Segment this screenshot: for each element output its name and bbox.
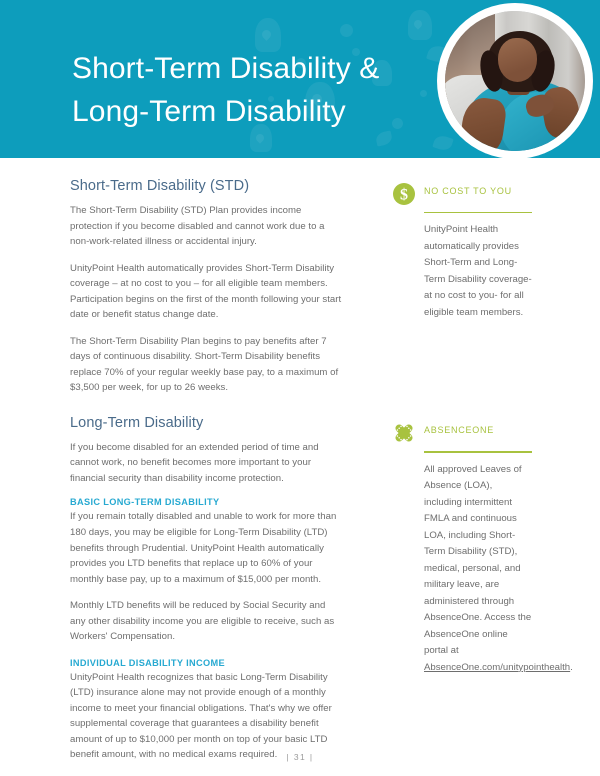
subheading-individual-disability-income: INDIVIDUAL DISABILITY INCOME [70, 658, 342, 668]
page-number: | 31 | [287, 752, 314, 762]
std-paragraph-2: UnityPoint Health automatically provides… [70, 261, 342, 323]
section-spacer [70, 396, 342, 415]
callout-body-text-after-link: . [570, 662, 573, 673]
page-title-line-2: Long-Term Disability [72, 91, 432, 134]
subheading-basic-long-term-disability: BASIC LONG-TERM DISABILITY [70, 497, 342, 507]
bandages-icon [392, 421, 416, 445]
section-heading-std: Short-Term Disability (STD) [70, 178, 342, 194]
std-paragraph-1: The Short-Term Disability (STD) Plan pro… [70, 203, 342, 250]
basic-ltd-paragraph-2: Monthly LTD benefits will be reduced by … [70, 598, 342, 645]
callout-divider [424, 212, 532, 213]
main-column: Short-Term Disability (STD) The Short-Te… [70, 178, 342, 763]
section-long-term-disability: Long-Term Disability If you become disab… [70, 415, 342, 763]
dollar-circle-icon: $ [392, 182, 416, 206]
callout-title-no-cost: NO COST TO YOU [424, 182, 532, 196]
svg-text:$: $ [400, 186, 408, 203]
sidebar-callouts: $ NO COST TO YOU UnityPoint Health autom… [392, 182, 532, 676]
page-title-line-1: Short-Term Disability & [72, 48, 432, 91]
ltd-paragraph-1: If you become disabled for an extended p… [70, 440, 342, 487]
basic-ltd-paragraph-1: If you remain totally disabled and unabl… [70, 509, 342, 587]
page-footer: | 31 | [0, 752, 600, 762]
callout-divider [424, 451, 532, 452]
callout-spacer [392, 321, 532, 421]
callout-title-absenceone: ABSENCEONE [424, 421, 532, 435]
callout-body-no-cost: UnityPoint Health automatically provides… [424, 222, 532, 321]
callout-body-absenceone: All approved Leaves of Absence (LOA), in… [424, 462, 532, 677]
callout-no-cost-to-you: $ NO COST TO YOU UnityPoint Health autom… [392, 182, 532, 321]
callout-absenceone: ABSENCEONE All approved Leaves of Absenc… [392, 421, 532, 676]
section-short-term-disability: Short-Term Disability (STD) The Short-Te… [70, 178, 342, 396]
callout-body-text-before-link: All approved Leaves of Absence (LOA), in… [424, 464, 531, 657]
header-photo [437, 3, 593, 159]
std-paragraph-3: The Short-Term Disability Plan begins to… [70, 334, 342, 396]
header-photo-image [445, 11, 585, 151]
individual-di-paragraph-1: UnityPoint Health recognizes that basic … [70, 670, 342, 763]
section-heading-ltd: Long-Term Disability [70, 415, 342, 431]
absenceone-portal-link[interactable]: AbsenceOne.com/unitypointhealth [424, 662, 570, 673]
page-title: Short-Term Disability & Long-Term Disabi… [72, 48, 432, 133]
